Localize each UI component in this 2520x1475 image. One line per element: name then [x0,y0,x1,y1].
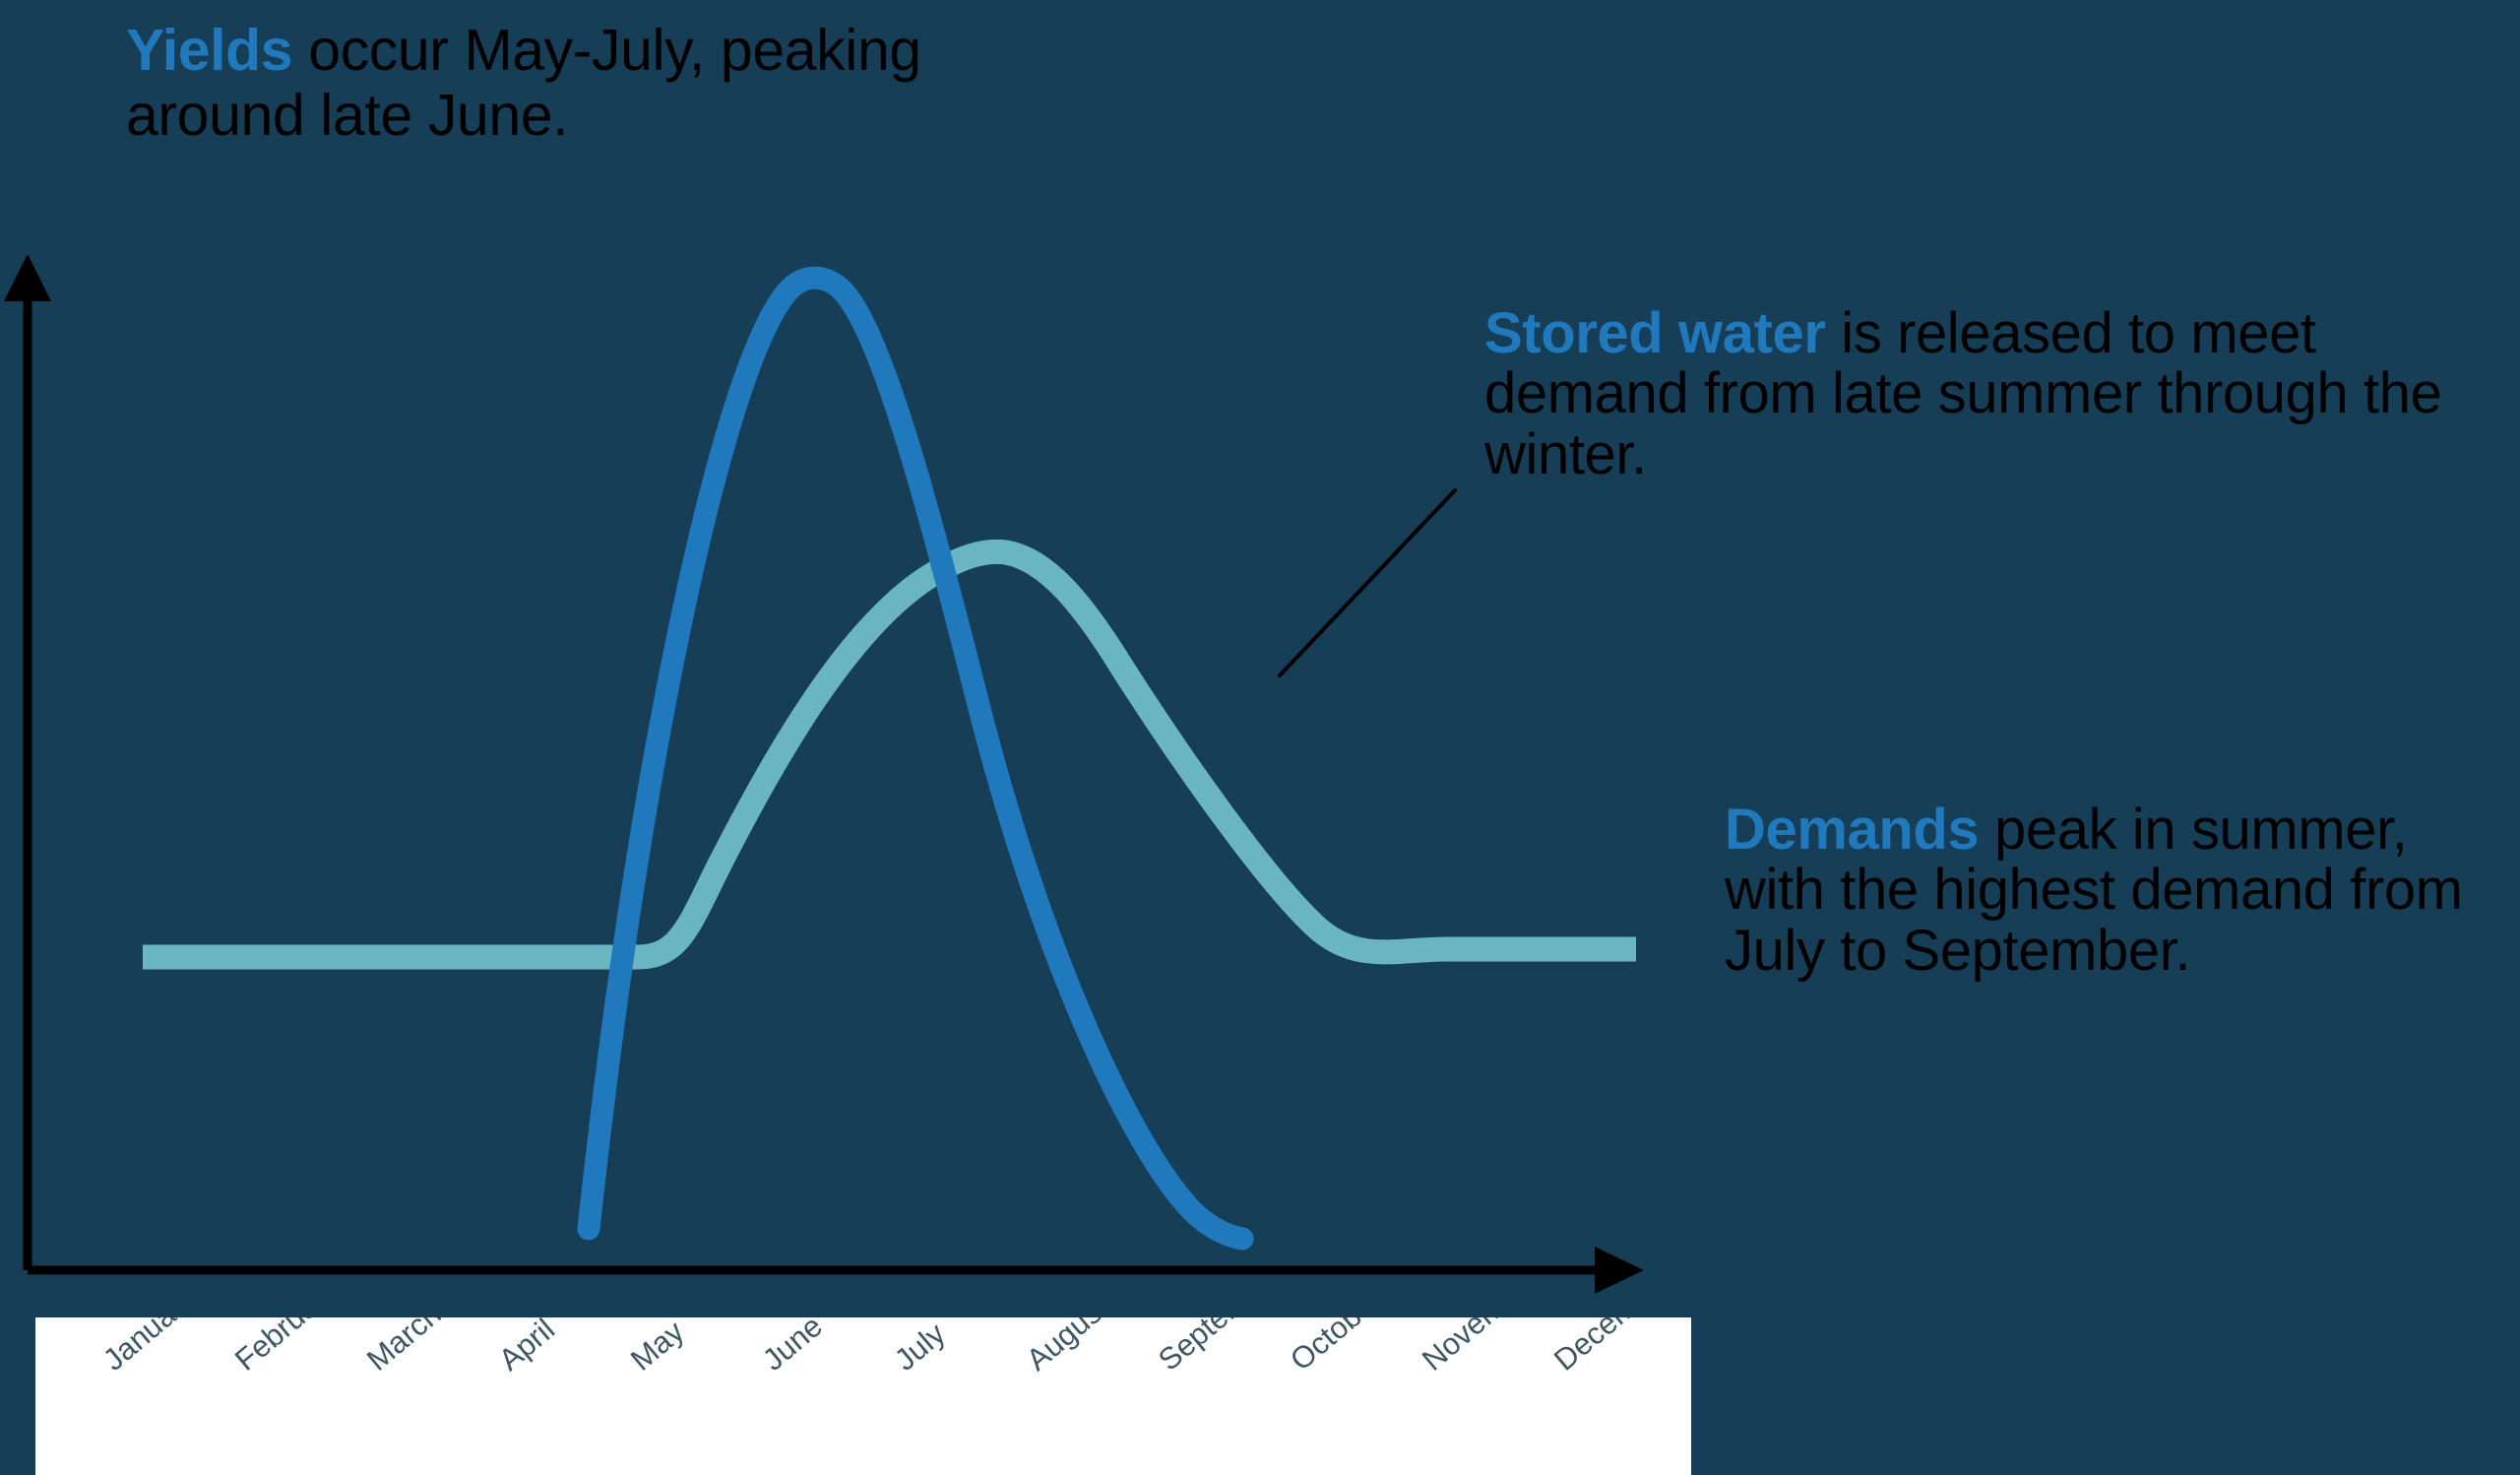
chart-canvas: Yields occur May-July, peaking around la… [0,0,2520,1475]
month-label-september: September [1152,1317,1289,1379]
month-label-october: October [1284,1317,1390,1379]
month-label-april: April [492,1317,562,1379]
month-axis-label-strip: January February March April May June Ju… [35,1317,1691,1475]
demands-curve [143,551,1636,957]
month-label-november: November [1416,1317,1546,1379]
yields-curve [589,278,1242,1239]
month-label-march: March [360,1317,448,1379]
month-label-july: July [888,1317,952,1379]
month-label-august: August [1020,1317,1115,1379]
plot-area [0,0,2520,1475]
month-label-february: February [228,1317,345,1379]
month-label-june: June [756,1317,830,1379]
month-label-december: December [1547,1317,1678,1379]
y-axis-arrowhead [4,254,51,301]
month-label-january: January [96,1317,203,1379]
stored-water-leader-line [1280,490,1455,675]
month-label-may: May [624,1317,691,1379]
x-axis-arrowhead [1595,1247,1644,1294]
